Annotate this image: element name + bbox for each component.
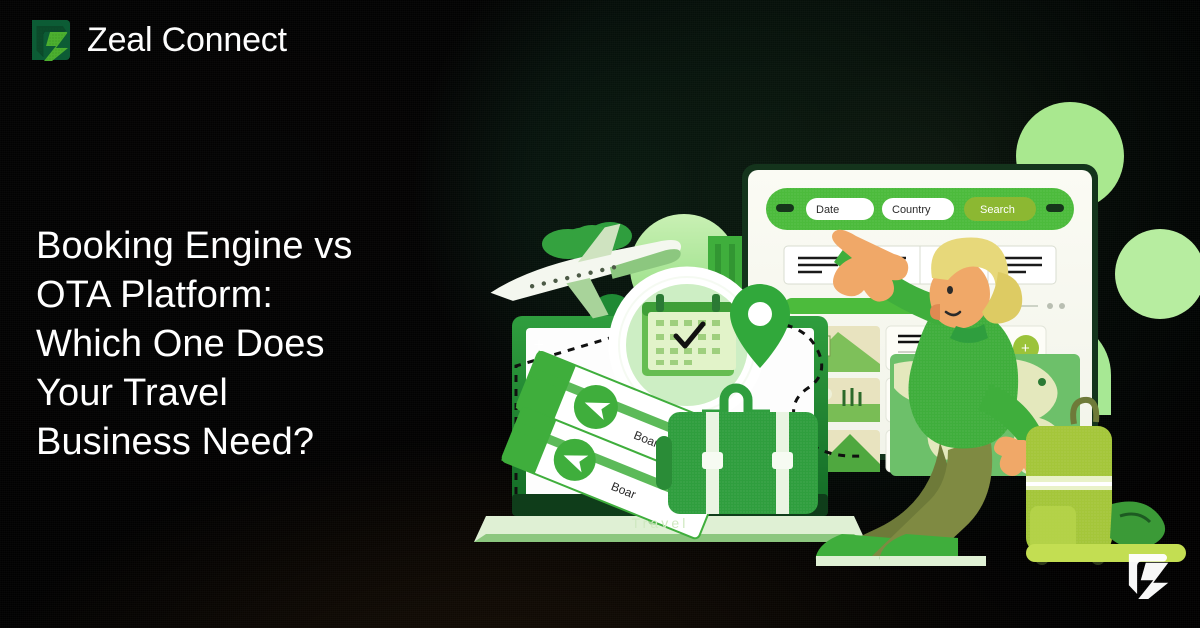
headline-line-1: Booking Engine vs bbox=[36, 222, 516, 271]
headline-line-3: Which One Does bbox=[36, 320, 516, 369]
illustration-svg: Date Country Search bbox=[470, 64, 1200, 584]
page-title: Booking Engine vs OTA Platform: Which On… bbox=[36, 222, 516, 467]
poster-canvas: Zeal Connect Booking Engine vs OTA Platf… bbox=[0, 0, 1200, 628]
headline-line-5: Business Need? bbox=[36, 418, 516, 467]
menu-dash-right-icon bbox=[1046, 204, 1064, 212]
country-input-label: Country bbox=[892, 204, 931, 216]
brand-name: Zeal Connect bbox=[87, 21, 287, 60]
search-button-label: Search bbox=[980, 204, 1015, 216]
headline-line-2: OTA Platform: bbox=[36, 271, 516, 320]
calendar-icon bbox=[642, 294, 736, 376]
zeal-connect-logo-icon bbox=[28, 16, 74, 64]
brand-logo[interactable]: Zeal Connect bbox=[28, 16, 287, 64]
search-bar[interactable]: Date Country Search bbox=[766, 188, 1074, 230]
menu-dash-left-icon bbox=[776, 204, 794, 212]
illustration-caption: Travel bbox=[470, 515, 850, 531]
travel-illustration: Date Country Search bbox=[470, 64, 1200, 584]
zeal-connect-watermark-icon bbox=[1118, 544, 1176, 604]
date-input-label: Date bbox=[816, 204, 839, 216]
filter-row bbox=[784, 246, 1056, 284]
headline-line-4: Your Travel bbox=[36, 369, 516, 418]
